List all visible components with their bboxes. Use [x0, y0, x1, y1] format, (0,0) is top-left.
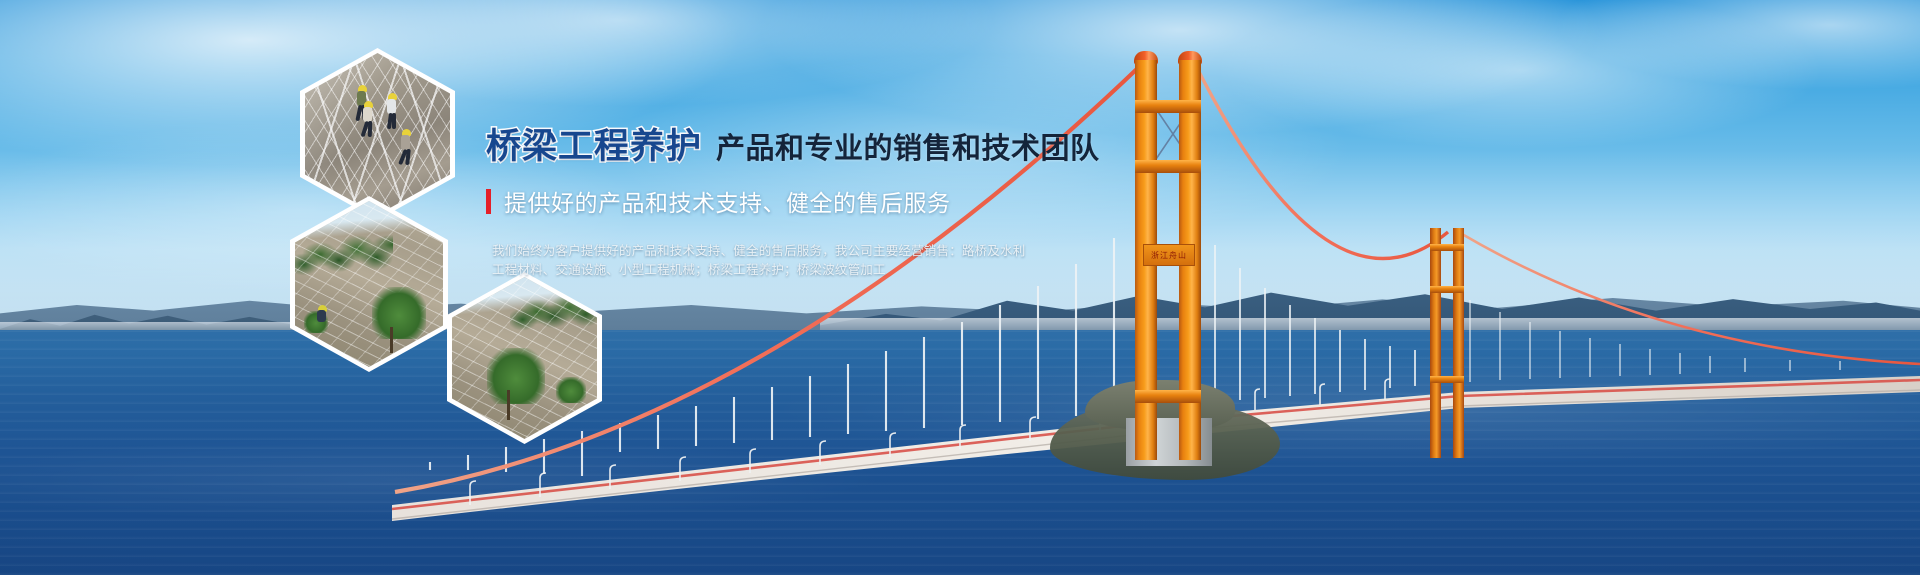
page-title: 桥梁工程养护 — [486, 118, 702, 169]
foreground-tree — [487, 348, 545, 404]
tree-trunk — [507, 390, 510, 420]
small-shrub — [556, 377, 586, 403]
bridge-tower-main: 浙江舟山 — [1135, 60, 1201, 460]
far-tower-leg-right — [1453, 228, 1464, 458]
bridge-cables — [0, 0, 1920, 575]
tower-plaque: 浙江舟山 — [1143, 244, 1195, 266]
far-tower-crossbeam-lower — [1430, 376, 1464, 383]
description-line-1: 我们始终为客户提供好的产品和技术支持、健全的售后服务，我公司主要经营销售：路桥及… — [492, 242, 962, 261]
far-tower-crossbeam-mid — [1430, 286, 1464, 293]
subtitle: 提供好的产品和技术支持、健全的售后服务 — [504, 184, 951, 218]
bridge-tower-far — [1430, 228, 1464, 458]
hero-banner: 浙江舟山 — [0, 0, 1920, 575]
foreground-tree — [372, 287, 426, 339]
subtitle-row: 提供好的产品和技术支持、健全的售后服务 — [486, 184, 1046, 218]
tower-crossbeam-mid — [1135, 160, 1201, 173]
tree-trunk — [390, 327, 393, 353]
banner-description: 我们始终为客户提供好的产品和技术支持、健全的售后服务，我公司主要经营销售：路桥及… — [492, 242, 962, 280]
slope-wire-mesh — [295, 201, 443, 367]
banner-text-block: 桥梁工程养护 产品和专业的销售和技术团队 提供好的产品和技术支持、健全的售后服务… — [486, 118, 1046, 280]
tower-crossbeam-upper — [1135, 100, 1201, 113]
far-tower-crossbeam-upper — [1430, 244, 1464, 251]
tower-crossbeam-lower — [1135, 390, 1201, 403]
far-tower-leg-left — [1430, 228, 1441, 458]
headline-tagline: 产品和专业的销售和技术团队 — [716, 125, 1100, 167]
wire-mesh-coarse — [305, 53, 450, 215]
accent-bar-icon — [486, 189, 491, 214]
description-line-2: 工程材料、交通设施、小型工程机械；桥梁工程养护；桥梁波纹管加工 — [492, 261, 962, 280]
headline-row: 桥梁工程养护 产品和专业的销售和技术团队 — [486, 118, 1046, 169]
